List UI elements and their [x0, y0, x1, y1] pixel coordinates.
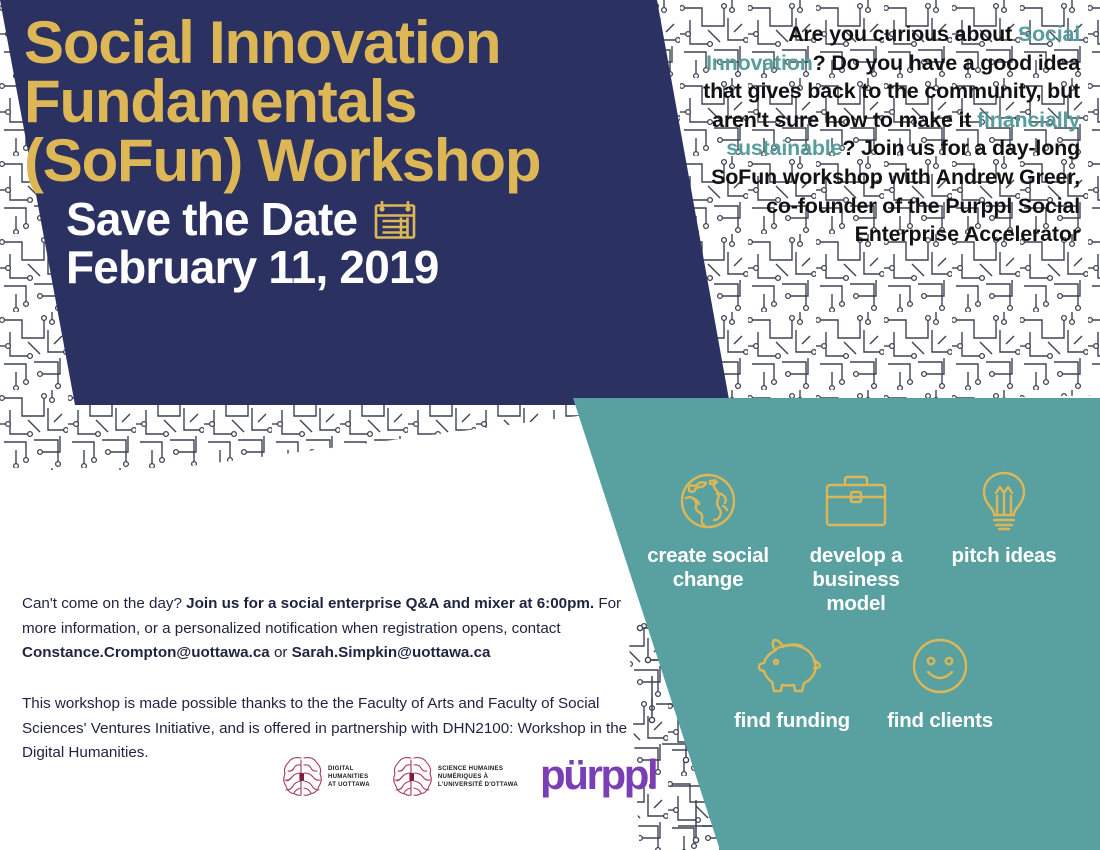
benefit-pitch-ideas: pitch ideas [930, 468, 1078, 568]
hero-text-group: Social Innovation Fundamentals (SoFun) W… [24, 14, 714, 292]
intro-text-run: Are you curious about [788, 22, 1018, 46]
purppl-logo: pürppl [540, 754, 656, 796]
page-title-line-2: Fundamentals [24, 73, 714, 132]
sciences-humaines-numeriques-logo: SCIENCE HUMAINES NUMÉRIQUES À L'UNIVERSI… [392, 755, 518, 799]
digital-humanities-at-uottawa-logo: DIGITAL HUMANITIES AT UOTTAWA [282, 755, 370, 799]
benefit-create-social-change: create social change [634, 468, 782, 592]
intro-block: Are you curious about Social Innovation?… [690, 20, 1080, 249]
event-date-row: February 11, 2019 [66, 244, 714, 292]
benefit-find-funding: find funding [718, 633, 866, 733]
benefit-label: find funding [718, 709, 866, 733]
benefits-group: create social change develop a business … [634, 468, 1094, 733]
page-title: Social Innovation Fundamentals (SoFun) W… [24, 14, 714, 190]
intro-paragraph: Are you curious about Social Innovation?… [690, 20, 1080, 249]
benefit-label: pitch ideas [930, 544, 1078, 568]
benefit-develop-a-business-model: develop a business model [782, 468, 930, 615]
page-title-line-1: Social Innovation [24, 14, 714, 73]
globe-icon [634, 468, 782, 534]
smiley-face-icon [866, 633, 1014, 699]
lightbulb-icon [930, 468, 1078, 534]
page-title-line-3: (SoFun) Workshop [24, 132, 714, 191]
poster-canvas: Social Innovation Fundamentals (SoFun) W… [0, 0, 1100, 850]
info-block: Can't come on the day? Join us for a soc… [22, 592, 632, 766]
logo-label: DIGITAL HUMANITIES AT UOTTAWA [328, 765, 370, 789]
contact-text-run: Can't come on the day? [22, 595, 186, 612]
save-the-date-label: Save the Date [66, 196, 357, 244]
contact-emphasis-run: Join us for a social enterprise Q&A and … [186, 595, 594, 612]
benefits-row-1: create social change develop a business … [634, 468, 1094, 615]
calendar-icon [373, 199, 417, 241]
logo-strip: DIGITAL HUMANITIES AT UOTTAWA [282, 755, 656, 799]
benefit-label: find clients [866, 709, 1014, 733]
logo-label: SCIENCE HUMAINES NUMÉRIQUES À L'UNIVERSI… [438, 765, 518, 789]
benefits-row-2: find funding find clients [634, 633, 1094, 733]
benefit-label: develop a business model [782, 544, 930, 615]
benefit-find-clients: find clients [866, 633, 1014, 733]
brain-icon [392, 755, 432, 799]
contact-text-run: or [270, 644, 292, 661]
briefcase-icon [782, 468, 930, 534]
save-the-date-row: Save the Date [66, 196, 714, 244]
brain-icon [282, 755, 322, 799]
contact-emphasis-run: Constance.Crompton@uottawa.ca [22, 644, 270, 661]
benefit-label: create social change [634, 544, 782, 592]
piggy-bank-icon [718, 633, 866, 699]
contact-paragraph: Can't come on the day? Join us for a soc… [22, 592, 632, 666]
contact-emphasis-run: Sarah.Simpkin@uottawa.ca [292, 644, 491, 661]
event-date: February 11, 2019 [66, 241, 439, 293]
